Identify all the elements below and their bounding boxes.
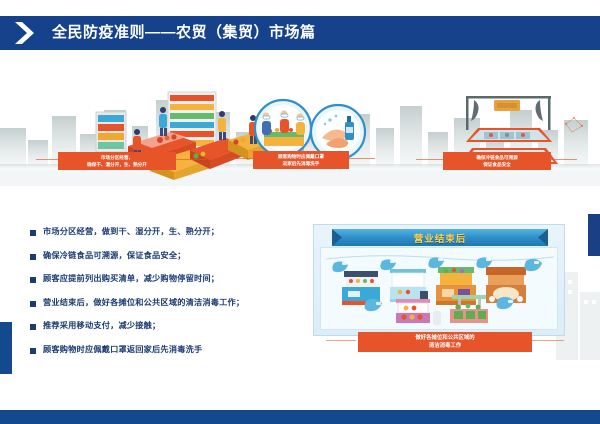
- caption-rule: [551, 159, 577, 160]
- list-item: 推荐采用移动支付，减少接触；: [30, 320, 310, 331]
- closing-procedure-panel: 营业结束后: [313, 224, 565, 336]
- list-item: 顾客购物时应佩戴口罩返回家后先消毒洗手: [30, 344, 310, 355]
- guideline-list: 市场分区经营，做到干、湿分开，生、熟分开； 确保冷链食品可溯源，保证食品安全； …: [30, 226, 310, 367]
- top-margin: [0, 0, 600, 16]
- square-bullet-icon: [30, 277, 36, 283]
- list-item-text: 顾客应提前列出购买清单，减少购物停留时间；: [43, 273, 219, 284]
- list-item-text: 顾客购物时应佩戴口罩返回家后先消毒洗手: [43, 344, 202, 355]
- list-item-text: 确保冷链食品可溯源，保证食品安全；: [43, 250, 186, 261]
- poster-root: 全民防疫准则——农贸（集贸）市场篇: [0, 0, 600, 424]
- list-item-text: 推荐采用移动支付，减少接触；: [43, 320, 160, 331]
- square-bullet-icon: [30, 348, 36, 354]
- square-bullet-icon: [30, 254, 36, 260]
- square-bullet-icon: [30, 301, 36, 307]
- scene-caption-1: 市场分区经营， 确保干、湿分开，生、熟分开: [58, 152, 176, 170]
- caption-rule: [176, 159, 206, 160]
- scene-caption-3: 确保冷链食品可溯源 保证食品安全: [443, 152, 551, 170]
- square-bullet-icon: [30, 230, 36, 236]
- caption-rule: [532, 340, 564, 341]
- footer-bar: [0, 410, 600, 424]
- caption-rule: [349, 158, 375, 159]
- panel-ribbon: 营业结束后: [332, 229, 548, 246]
- header-bar: 全民防疫准则——农贸（集贸）市场篇: [0, 16, 600, 50]
- list-item: 营业结束后，做好各摊位和公共区域的清洁消毒工作；: [30, 297, 310, 308]
- panel-caption: 做好各摊位和公共区域的 清洁消毒工作: [358, 332, 532, 352]
- list-item: 市场分区经营，做到干、湿分开，生、熟分开；: [30, 226, 310, 237]
- page-title: 全民防疫准则——农贸（集贸）市场篇: [52, 16, 316, 50]
- list-item-text: 营业结束后，做好各摊位和公共区域的清洁消毒工作；: [43, 297, 244, 308]
- chevron-right-icon: [0, 16, 52, 50]
- list-item-text: 市场分区经营，做到干、湿分开，生、熟分开；: [43, 226, 219, 237]
- caption-rule: [416, 159, 444, 160]
- market-stalls-cleaning-icon: [320, 249, 560, 331]
- panel-title: 营业结束后: [332, 229, 548, 246]
- list-item: 确保冷链食品可溯源，保证食品安全；: [30, 250, 310, 261]
- left-edge-tab: [0, 322, 12, 374]
- caption-rule: [228, 158, 254, 159]
- caption-rule: [326, 340, 356, 341]
- list-item: 顾客应提前列出购买清单，减少购物停留时间；: [30, 273, 310, 284]
- square-bullet-icon: [30, 324, 36, 330]
- scene-caption-2: 顾客购物时应佩戴口罩 返家后先消毒洗手: [253, 151, 349, 169]
